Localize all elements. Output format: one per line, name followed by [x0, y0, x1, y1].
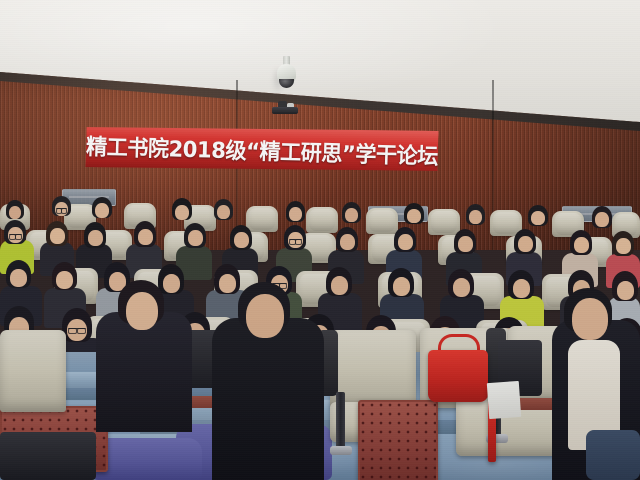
person-face	[217, 205, 230, 219]
seat	[306, 207, 338, 233]
person-face	[531, 211, 545, 225]
event-banner: 精工书院2018级“精工研思”学干论坛	[85, 121, 438, 179]
person-face	[9, 206, 21, 219]
person-face	[595, 212, 609, 227]
eyeglasses-icon	[56, 208, 67, 212]
person-face	[88, 230, 103, 246]
person-face	[340, 234, 355, 250]
foreground-blue-seat	[92, 438, 202, 480]
person-face	[50, 228, 65, 244]
person-face	[398, 234, 413, 250]
wall-mounted-device-icon	[272, 101, 298, 114]
person-face	[574, 237, 589, 253]
black-backpack	[0, 432, 96, 480]
person-face	[234, 232, 249, 248]
person-face	[345, 208, 358, 222]
person-face	[138, 229, 153, 245]
person-face	[518, 236, 533, 252]
person-face	[407, 209, 421, 223]
person-face	[616, 238, 631, 254]
person-face	[458, 236, 473, 252]
person-face	[175, 205, 189, 220]
person-legs	[586, 430, 640, 480]
person-face	[10, 269, 27, 287]
eyeglasses-icon	[289, 239, 302, 243]
person-face	[163, 274, 180, 293]
person-face	[393, 277, 410, 296]
person-face	[56, 271, 73, 289]
person-face	[95, 203, 109, 218]
seat-wood-panel	[358, 400, 438, 480]
auditorium-photo: 精工书院2018级“精工研思”学干论坛	[0, 0, 640, 480]
person-face	[188, 230, 203, 246]
person-face	[219, 274, 236, 293]
person-face	[453, 278, 470, 297]
person-face	[331, 276, 348, 295]
foreground-seat-back	[0, 330, 66, 412]
seat-foot	[330, 446, 352, 455]
person-face	[617, 281, 634, 300]
seat	[246, 206, 278, 232]
person-face	[572, 298, 608, 340]
person-face	[469, 210, 482, 224]
person-face	[513, 279, 530, 298]
seat	[428, 209, 460, 235]
seat	[366, 208, 398, 234]
red-handbag	[428, 350, 488, 402]
person-torso	[212, 318, 324, 480]
person-face	[289, 207, 302, 221]
eyeglasses-icon	[68, 328, 86, 332]
eyeglasses-icon	[9, 234, 22, 238]
person-face	[126, 292, 158, 330]
person-face	[246, 294, 284, 338]
white-papers	[487, 381, 521, 419]
seat-leg	[336, 392, 345, 448]
person-torso	[96, 312, 192, 432]
